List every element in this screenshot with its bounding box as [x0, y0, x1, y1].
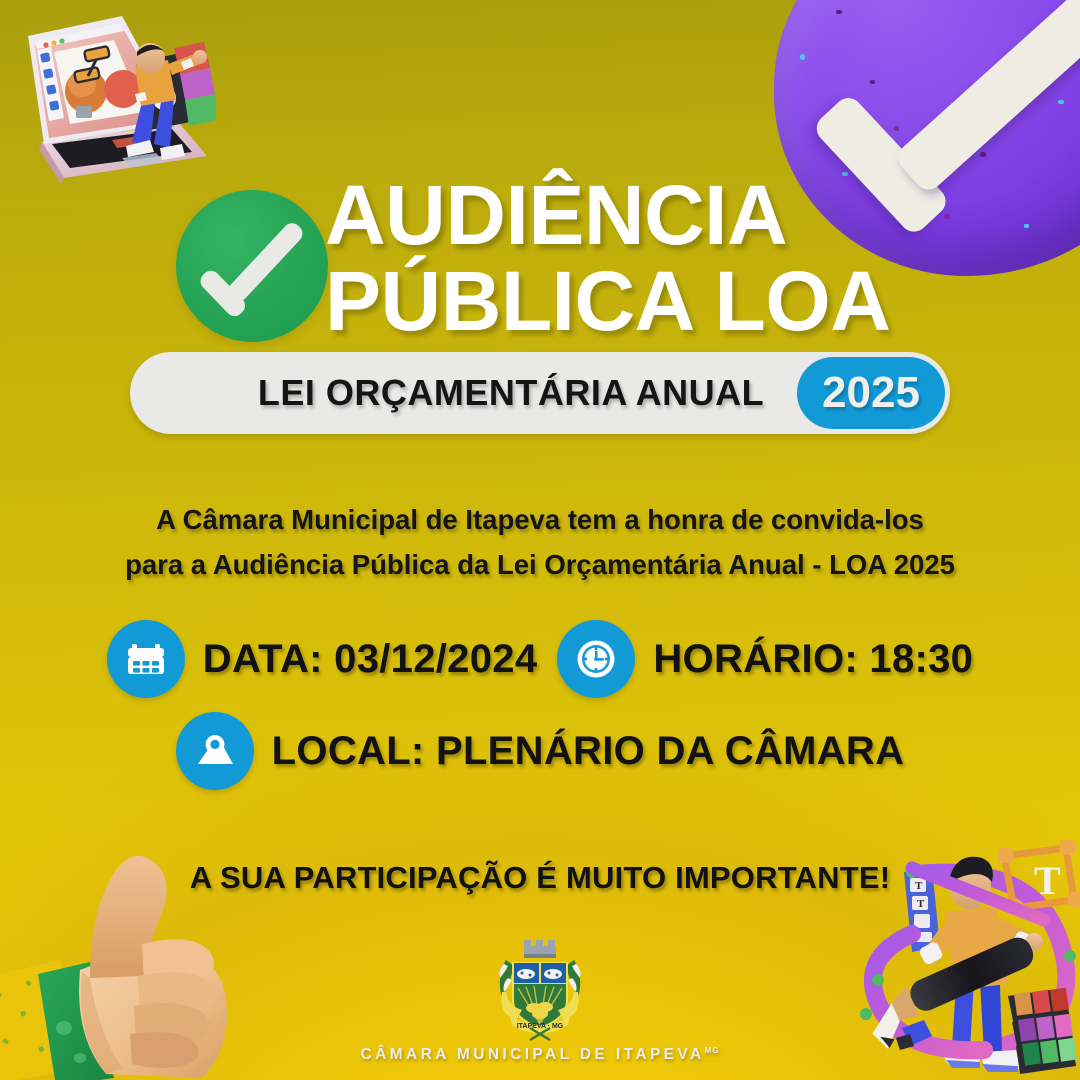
event-details-row-1: DATA: 03/12/2024 [0, 620, 1080, 698]
detail-location-text: LOCAL: PLENÁRIO DA CÂMARA [272, 729, 905, 774]
footer-organization: CÂMARA MUNICIPAL DE ITAPEVAMG [361, 1046, 720, 1064]
poster-canvas: AUDIÊNCIA PÚBLICA LOA LEI ORÇAMENTÁRIA A… [0, 0, 1080, 1080]
svg-text:ITAPEVA · MG: ITAPEVA · MG [517, 1023, 564, 1030]
svg-text:T: T [917, 898, 925, 910]
detail-time-text: HORÁRIO: 18:30 [653, 637, 973, 682]
laptop-illustration [4, 0, 216, 198]
event-details-row-2: LOCAL: PLENÁRIO DA CÂMARA [0, 712, 1080, 790]
detail-date: DATA: 03/12/2024 [107, 620, 538, 698]
year-badge: 2025 [797, 357, 945, 429]
title-line-1: AUDIÊNCIA [325, 174, 1065, 256]
calendar-icon [107, 620, 185, 698]
check-circle-icon [176, 190, 328, 342]
title-line-2: PÚBLICA LOA [325, 260, 1065, 342]
footer-organization-text: CÂMARA MUNICIPAL DE ITAPEVA [361, 1046, 705, 1063]
intro-line-2: para a Audiência Pública da Lei Orçament… [50, 543, 1030, 588]
itapeva-coat-of-arms-icon: ITAPEVA · MG [476, 932, 604, 1044]
poster-header: AUDIÊNCIA PÚBLICA LOA [0, 176, 1080, 352]
footer-state-abbrev: MG [705, 1046, 720, 1055]
intro-paragraph: A Câmara Municipal de Itapeva tem a honr… [50, 498, 1030, 587]
subtitle-label: LEI ORÇAMENTÁRIA ANUAL [130, 352, 892, 434]
footer: ITAPEVA · MG CÂMARA MUNICIPAL DE ITAPEVA… [0, 932, 1080, 1064]
svg-text:T: T [915, 880, 923, 892]
page-title: AUDIÊNCIA PÚBLICA LOA [325, 174, 1065, 343]
subtitle-bar: LEI ORÇAMENTÁRIA ANUAL 2025 [130, 352, 950, 434]
intro-line-1: A Câmara Municipal de Itapeva tem a honr… [50, 498, 1030, 543]
svg-text:T: T [1034, 858, 1061, 903]
detail-time: HORÁRIO: 18:30 [557, 620, 973, 698]
detail-date-text: DATA: 03/12/2024 [203, 637, 538, 682]
map-pin-icon [176, 712, 254, 790]
event-details: DATA: 03/12/2024 [0, 620, 1080, 790]
detail-location: LOCAL: PLENÁRIO DA CÂMARA [176, 712, 905, 790]
clock-icon [557, 620, 635, 698]
